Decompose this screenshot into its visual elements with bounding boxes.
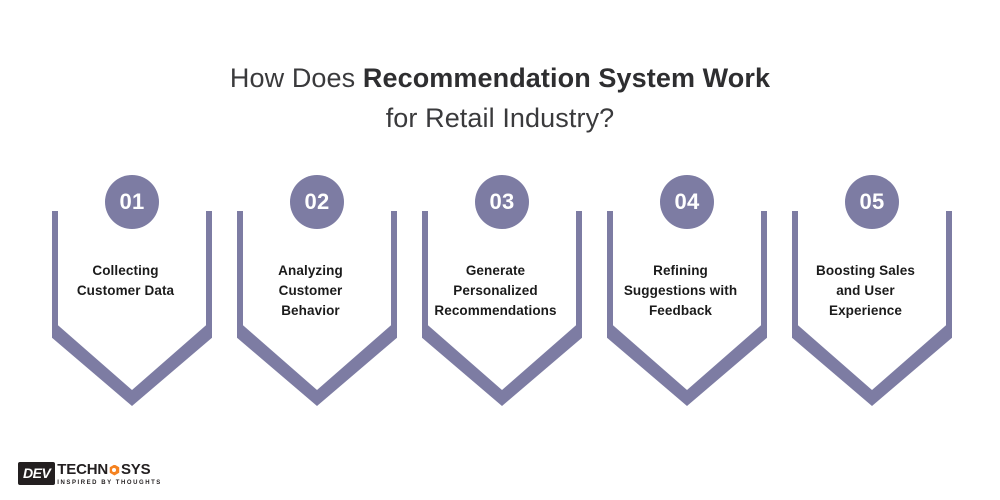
- gear-icon: [109, 465, 120, 476]
- company-logo: DEV TECHN SYS INSPIRED BY THOUGHTS: [18, 462, 162, 490]
- title-emphasis: Recommendation System Work: [363, 63, 770, 93]
- logo-sys-text: SYS: [121, 462, 150, 478]
- logo-wordmark: TECHN SYS: [57, 462, 162, 478]
- process-steps: CollectingCustomer Data 01 AnalyzingCust…: [52, 175, 952, 415]
- logo-dev-text: DEV: [23, 466, 50, 480]
- logo-monitor-icon: DEV: [18, 462, 55, 485]
- step-label: GeneratePersonalizedRecommendations: [415, 261, 576, 321]
- step-number-badge: 04: [660, 175, 714, 229]
- step-label: Boosting Salesand UserExperience: [785, 261, 946, 321]
- step-number-badge: 05: [845, 175, 899, 229]
- step-number-badge: 01: [105, 175, 159, 229]
- step-card-02[interactable]: AnalyzingCustomerBehavior 02: [237, 175, 397, 415]
- logo-wordmark-group: TECHN SYS INSPIRED BY THOUGHTS: [57, 462, 162, 487]
- step-number-badge: 02: [290, 175, 344, 229]
- step-card-body: RefiningSuggestions withFeedback: [613, 205, 761, 390]
- step-card-body: GeneratePersonalizedRecommendations: [428, 205, 576, 390]
- title-line-1: How Does Recommendation System Work: [0, 58, 1000, 98]
- step-card-body: AnalyzingCustomerBehavior: [243, 205, 391, 390]
- logo-tech-text: TECHN: [57, 462, 108, 478]
- title-prefix: How Does: [230, 63, 363, 93]
- step-card-04[interactable]: RefiningSuggestions withFeedback 04: [607, 175, 767, 415]
- title-line-2: for Retail Industry?: [0, 98, 1000, 138]
- step-card-body: Boosting Salesand UserExperience: [798, 205, 946, 390]
- step-card-03[interactable]: GeneratePersonalizedRecommendations 03: [422, 175, 582, 415]
- step-number-badge: 03: [475, 175, 529, 229]
- page-title: How Does Recommendation System Work for …: [0, 58, 1000, 138]
- step-card-body: CollectingCustomer Data: [58, 205, 206, 390]
- logo-tagline: INSPIRED BY THOUGHTS: [57, 479, 162, 487]
- step-label: RefiningSuggestions withFeedback: [600, 261, 761, 321]
- step-card-01[interactable]: CollectingCustomer Data 01: [52, 175, 212, 415]
- step-label: AnalyzingCustomerBehavior: [230, 261, 391, 321]
- step-card-05[interactable]: Boosting Salesand UserExperience 05: [792, 175, 952, 415]
- step-label: CollectingCustomer Data: [45, 261, 206, 301]
